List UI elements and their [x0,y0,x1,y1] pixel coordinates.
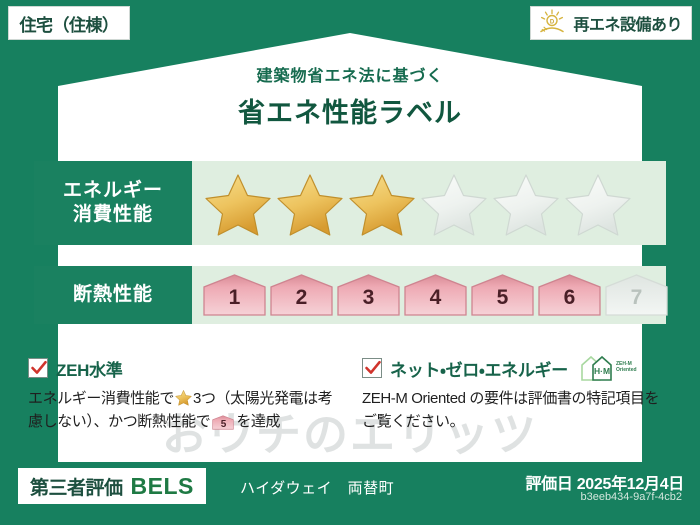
svg-text:H·M: H·M [594,366,610,376]
insulation-level-cell-1: 1 [202,273,267,317]
statement-zeh-body: エネルギー消費性能で 3つ（太陽光発電は考慮しない）、かつ断熱性能で 5 を達成 [28,387,338,434]
insulation-level-cell-4: 4 [403,273,468,317]
star-rating-track [192,161,666,245]
star-icon-filled-2 [276,171,344,236]
category-chip: 住宅（住棟） [8,6,130,40]
star-icon-empty-4 [420,171,488,236]
insulation-performance-label-box: 断熱性能 [34,266,192,324]
zeh-m-caption-line2: Oriented [616,367,637,373]
insulation-level-cell-2: 2 [269,273,334,317]
checkbox-checked-icon-net-zero [362,358,382,378]
label-footer: 第三者評価 BELS ハイダウェイ 両替町 評価日 2025年12月4日 b3e… [0,460,700,525]
star-icon-empty-6 [564,171,632,236]
insulation-level-number-5: 5 [470,286,535,310]
evaluation-id: b3eeb434-9a7f-4cb2 [580,491,682,503]
insulation-level-number-6: 6 [537,286,602,310]
house-icon-inline-value: 5 [212,417,234,433]
statement-net-zero-energy: ネット・ゼロ・エネルギー H·M ZEH-M Oriented ZEH-M Or… [362,356,672,434]
energy-performance-row: エネルギー 消費性能 [34,161,666,245]
insulation-level-cell-3: 3 [336,273,401,317]
star-icon-inline [175,389,192,406]
insulation-level-number-7: 7 [604,286,669,310]
insulation-level-number-2: 2 [269,286,334,310]
star-icon-filled-3 [348,171,416,236]
insulation-level-cell-5: 5 [470,273,535,317]
statement-zeh-body-part3: を達成 [236,413,280,430]
house-icon-inline-level: 5 [212,414,234,431]
bels-badge-ja: 第三者評価 [30,473,123,500]
statement-zeh-header: ZEH水準 [28,356,338,380]
insulation-level-cell-7: 7 [604,273,669,317]
insulation-level-number-4: 4 [403,286,468,310]
category-chip-label: 住宅（住棟） [20,11,119,36]
checkbox-checked-icon-zeh [28,358,48,378]
statement-net-zero-title: ネット・ゼロ・エネルギー [390,356,568,381]
insulation-performance-row: 断熱性能 [34,266,666,324]
energy-label-line1: エネルギー [63,179,163,203]
label-title-block: 建築物省エネ法に基づく 省エネ性能ラベル [0,62,700,130]
bels-badge: 第三者評価 BELS [18,468,206,504]
label-subtitle: 建築物省エネ法に基づく [0,62,700,86]
zeh-m-oriented-logo: H·M ZEH-M Oriented [580,354,637,382]
insulation-level-number-3: 3 [336,286,401,310]
energy-label-line2: 消費性能 [63,203,163,227]
insulation-level-number-1: 1 [202,286,267,310]
star-icon-filled-1 [204,171,272,236]
star-icon-empty-5 [492,171,560,236]
zeh-m-logo-caption: ZEH-M Oriented [616,362,637,374]
bels-badge-en: BELS [131,473,194,500]
sun-solar-icon: D [537,8,567,39]
statement-zeh-body-part1: エネルギー消費性能で [28,390,174,407]
insulation-level-cell-6: 6 [537,273,602,317]
svg-text:D: D [550,19,555,25]
renewable-energy-chip: D 再エネ設備あり [530,6,692,40]
statement-zeh-title: ZEH水準 [56,356,123,381]
statement-net-zero-header: ネット・ゼロ・エネルギー H·M ZEH-M Oriented [362,356,672,380]
insulation-level-track: 1 2 3 4 [192,266,669,324]
statement-zeh-standard: ZEH水準 エネルギー消費性能で 3つ（太陽光発電は考慮しない）、かつ断熱性能で… [28,356,338,434]
energy-performance-label: 住宅（住棟） D 再エネ設備あり 建築物省エネ法に基づく [0,0,700,525]
evaluation-date-label: 評価日 [525,476,572,493]
energy-performance-label-box: エネルギー 消費性能 [34,161,192,245]
statement-net-zero-body: ZEH-M Oriented の要件は評価書の特記項目をご覧ください。 [362,387,672,434]
renewable-chip-label: 再エネ設備あり [573,11,682,35]
label-main-title: 省エネ性能ラベル [0,91,700,130]
insulation-label-text: 断熱性能 [73,283,153,307]
property-name: ハイダウェイ 両替町 [240,477,394,498]
